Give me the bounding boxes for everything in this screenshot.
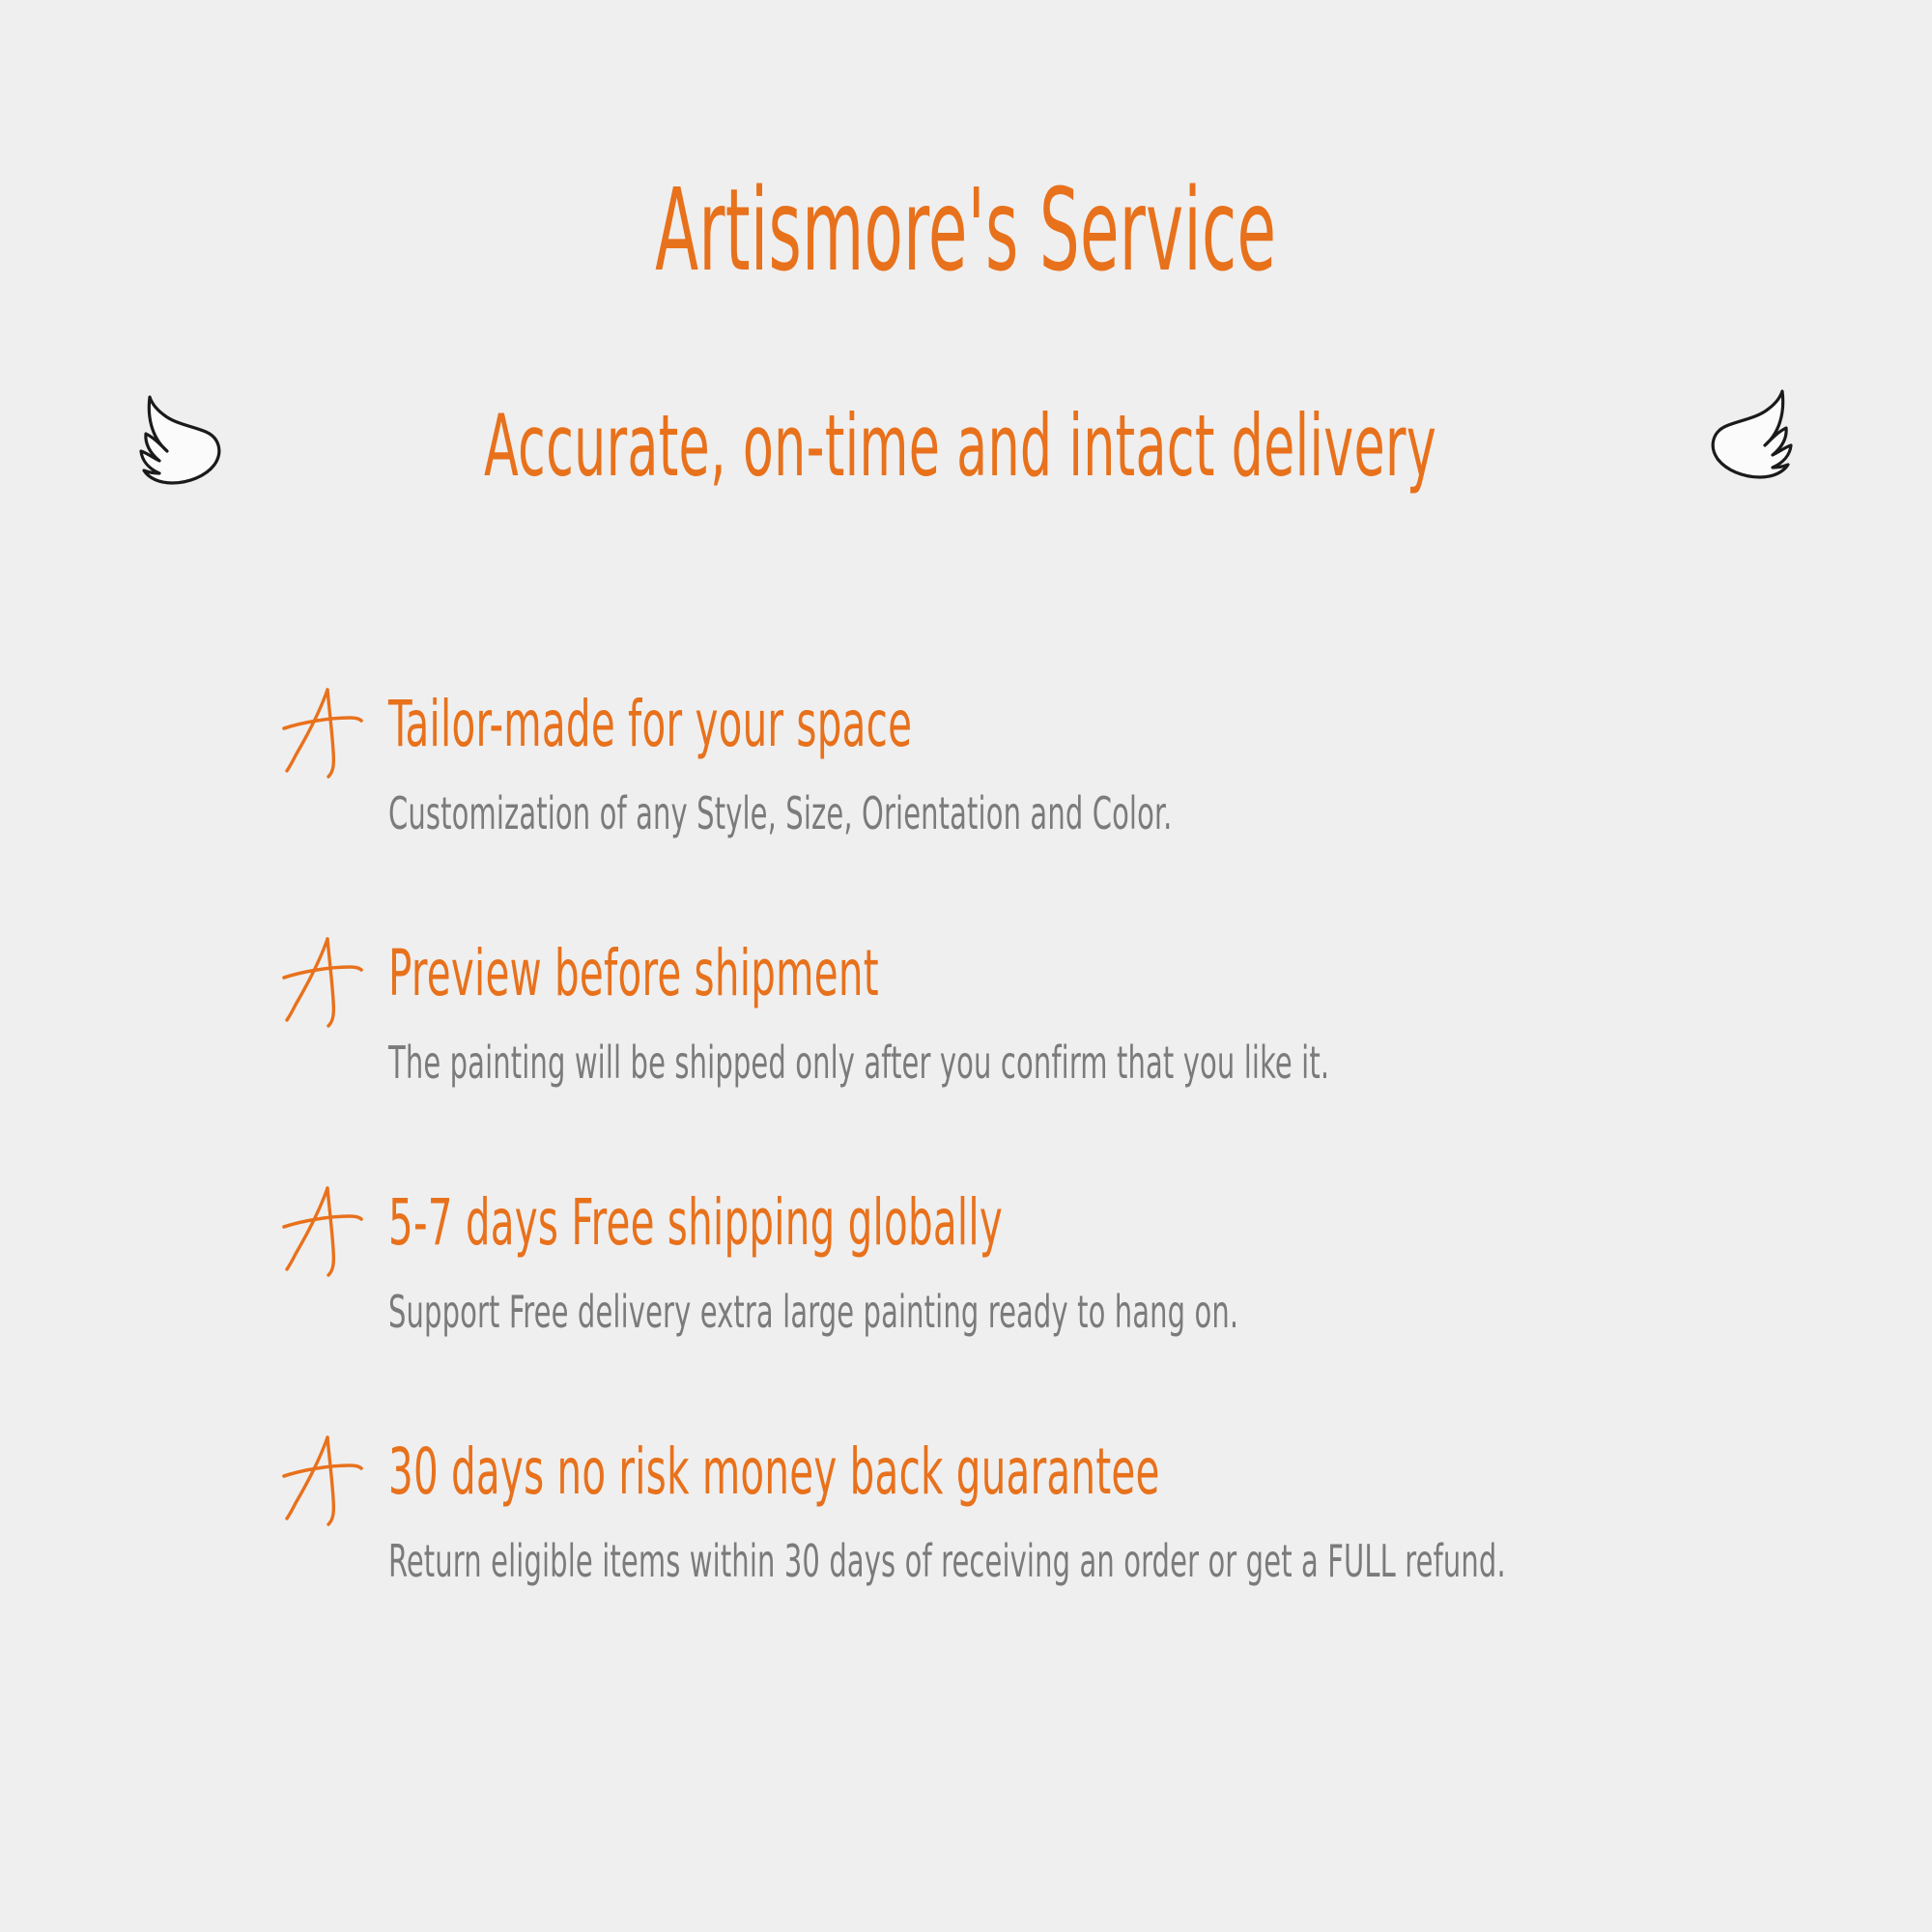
script-letter-a-icon xyxy=(282,1434,365,1526)
page-title: Artismore's Service xyxy=(655,172,1276,288)
feature-description: Return eligible items within 30 days of … xyxy=(388,1537,1423,1586)
title-block: Artismore's Service xyxy=(0,172,1932,288)
script-letter-a-icon xyxy=(282,1184,365,1277)
feature-description: The painting will be shipped only after … xyxy=(388,1038,1423,1088)
feature-item: Preview before shipment The painting wil… xyxy=(282,941,1866,1088)
feature-body: 30 days no risk money back guarantee Ret… xyxy=(388,1439,1866,1586)
feature-title: 5-7 days Free shipping globally xyxy=(388,1190,1393,1255)
service-info-page: Artismore's Service Accurate, on-time an… xyxy=(0,0,1932,1932)
feature-title: Tailor-made for your space xyxy=(388,692,1393,756)
feature-title: 30 days no risk money back guarantee xyxy=(388,1439,1393,1504)
feature-item: 30 days no risk money back guarantee Ret… xyxy=(282,1439,1866,1586)
feature-item: Tailor-made for your space Customization… xyxy=(282,692,1866,838)
feature-description: Support Free delivery extra large painti… xyxy=(388,1288,1423,1337)
script-letter-a-icon xyxy=(282,935,365,1028)
subtitle-row: Accurate, on-time and intact delivery xyxy=(0,404,1932,489)
feature-body: 5-7 days Free shipping globally Support … xyxy=(388,1190,1866,1337)
feature-body: Preview before shipment The painting wil… xyxy=(388,941,1866,1088)
feature-list: Tailor-made for your space Customization… xyxy=(282,692,1866,1586)
angel-wing-icon xyxy=(117,384,233,488)
feature-title: Preview before shipment xyxy=(388,941,1393,1006)
angel-wing-icon xyxy=(1699,378,1815,482)
feature-body: Tailor-made for your space Customization… xyxy=(388,692,1866,838)
feature-item: 5-7 days Free shipping globally Support … xyxy=(282,1190,1866,1337)
script-letter-a-icon xyxy=(282,686,365,779)
page-subtitle: Accurate, on-time and intact delivery xyxy=(484,404,1436,489)
feature-description: Customization of any Style, Size, Orient… xyxy=(388,789,1423,838)
